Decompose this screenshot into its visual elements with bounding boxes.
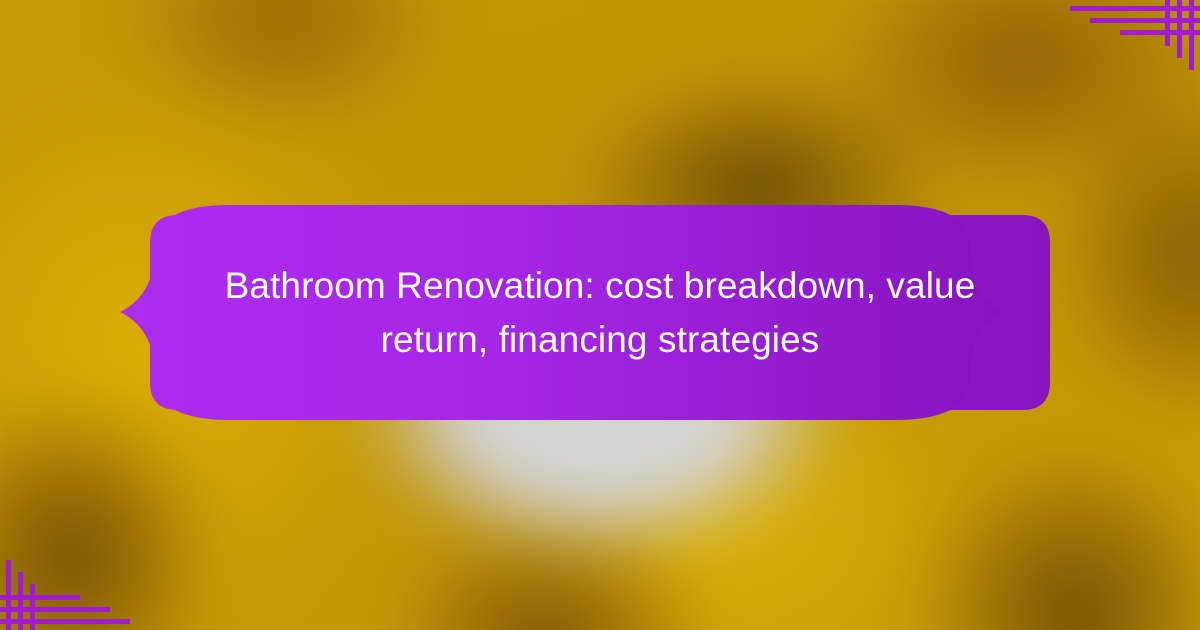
ornament-line-vertical	[1177, 0, 1182, 58]
title-banner: Bathroom Renovation: cost breakdown, val…	[100, 195, 1100, 430]
ornament-line-vertical	[1189, 0, 1194, 70]
corner-ornament-top-right	[1070, 0, 1200, 70]
ornament-line-horizontal	[1120, 30, 1200, 35]
corner-ornament-bottom-left	[0, 560, 130, 630]
ornament-line-vertical	[6, 560, 11, 630]
banner-title-text: Bathroom Renovation: cost breakdown, val…	[224, 259, 976, 366]
ornament-line-vertical	[30, 584, 35, 630]
banner-title: Bathroom Renovation: cost breakdown, val…	[220, 195, 980, 430]
ornament-line-horizontal	[0, 595, 80, 600]
ornament-line-horizontal	[1090, 18, 1200, 23]
ornament-line-vertical	[18, 572, 23, 630]
social-card-canvas: Bathroom Renovation: cost breakdown, val…	[0, 0, 1200, 630]
ornament-line-horizontal	[0, 607, 110, 612]
ornament-line-vertical	[1165, 0, 1170, 46]
